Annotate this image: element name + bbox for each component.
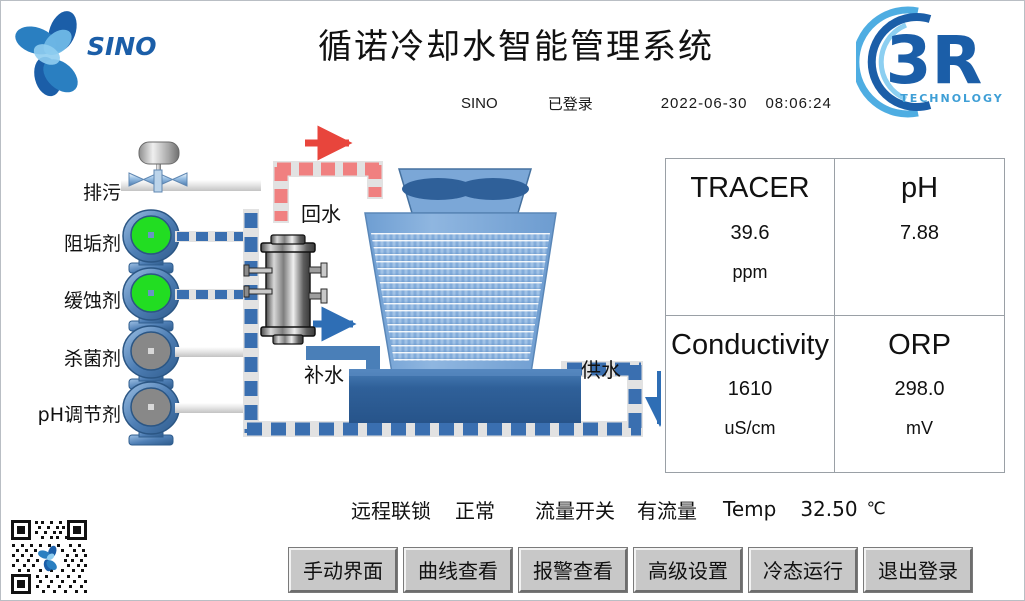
reading-tracer[interactable]: TRACER 39.6 ppm bbox=[666, 159, 835, 316]
r3-technology-logo: 3R TECHNOLOGY bbox=[856, 3, 1016, 121]
label-return-water: 回水 bbox=[301, 198, 341, 227]
system-time: 08:06:24 bbox=[765, 95, 831, 112]
flow-switch-value: 有流量 bbox=[637, 495, 697, 524]
qr-code[interactable] bbox=[9, 518, 91, 598]
cold-start-button[interactable]: 冷态运行 bbox=[749, 548, 857, 592]
manual-screen-button[interactable]: 手动界面 bbox=[289, 548, 397, 592]
pump-antiscalant bbox=[123, 210, 179, 273]
pump-ph-adjuster bbox=[123, 382, 179, 445]
reading-name: ORP bbox=[888, 330, 951, 362]
remote-interlock-label: 远程联锁 bbox=[351, 495, 431, 524]
reading-unit: mV bbox=[906, 418, 933, 439]
reading-orp[interactable]: ORP 298.0 mV bbox=[835, 316, 1004, 473]
reading-value: 7.88 bbox=[900, 222, 939, 245]
sino-logo: SINO bbox=[9, 7, 159, 107]
reading-unit: ppm bbox=[732, 262, 767, 283]
reading-value: 298.0 bbox=[894, 378, 944, 401]
alarm-view-button[interactable]: 报警查看 bbox=[519, 548, 627, 592]
system-date: 2022-06-30 bbox=[661, 95, 748, 112]
trend-view-button[interactable]: 曲线查看 bbox=[404, 548, 512, 592]
tower-louvers bbox=[371, 233, 550, 361]
label-makeup-water: 补水 bbox=[304, 359, 344, 388]
page-title: 循诺冷却水智能管理系统 bbox=[281, 19, 751, 68]
reading-name: pH bbox=[901, 173, 938, 205]
reading-value: 1610 bbox=[728, 378, 773, 401]
blowdown-pipe bbox=[121, 180, 261, 191]
dosing-line-ph bbox=[175, 403, 253, 413]
temp-unit: ℃ bbox=[867, 499, 886, 519]
status-strip: 远程联锁 正常 流量开关 有流量 Temp 32.50 ℃ bbox=[351, 493, 1011, 525]
flow-switch-label: 流量开关 bbox=[535, 495, 615, 524]
hmi-screen: SINO 循诺冷却水智能管理系统 SINO 已登录 2022-06-30 08:… bbox=[0, 0, 1025, 601]
temp-value: 32.50 bbox=[800, 497, 857, 521]
r3-wordmark: 3R bbox=[886, 22, 983, 99]
process-schematic bbox=[1, 121, 661, 491]
button-bar: 手动界面 曲线查看 报警查看 高级设置 冷态运行 退出登录 bbox=[289, 546, 972, 593]
pump-biocide bbox=[123, 326, 179, 389]
dosing-line-biocide bbox=[175, 347, 253, 357]
reading-ph[interactable]: pH 7.88 bbox=[835, 159, 1004, 316]
header-status-line: SINO 已登录 2022-06-30 08:06:24 bbox=[441, 91, 911, 115]
remote-interlock-value: 正常 bbox=[455, 495, 495, 524]
measurements-panel: TRACER 39.6 ppm pH 7.88 Conductivity 161… bbox=[665, 158, 1005, 473]
pump-inhibitor bbox=[123, 268, 179, 331]
advanced-settings-button[interactable]: 高级设置 bbox=[634, 548, 742, 592]
reading-conductivity[interactable]: Conductivity 1610 uS/cm bbox=[666, 316, 835, 473]
reading-name: TRACER bbox=[690, 173, 809, 205]
reading-value: 39.6 bbox=[731, 222, 770, 245]
label-supply-water: 供水 bbox=[581, 354, 621, 383]
logged-user: SINO bbox=[461, 95, 498, 112]
reading-name: Conductivity bbox=[671, 330, 829, 362]
reading-unit: uS/cm bbox=[724, 418, 775, 439]
tower-basin bbox=[349, 369, 581, 423]
sino-wordmark: SINO bbox=[87, 32, 156, 61]
logout-button[interactable]: 退出登录 bbox=[864, 548, 972, 592]
r3-subtitle: TECHNOLOGY bbox=[900, 92, 1004, 105]
temp-label: Temp bbox=[723, 497, 776, 521]
login-state: 已登录 bbox=[548, 93, 593, 114]
cooling-tower bbox=[349, 169, 581, 423]
fan-blade bbox=[457, 178, 529, 200]
